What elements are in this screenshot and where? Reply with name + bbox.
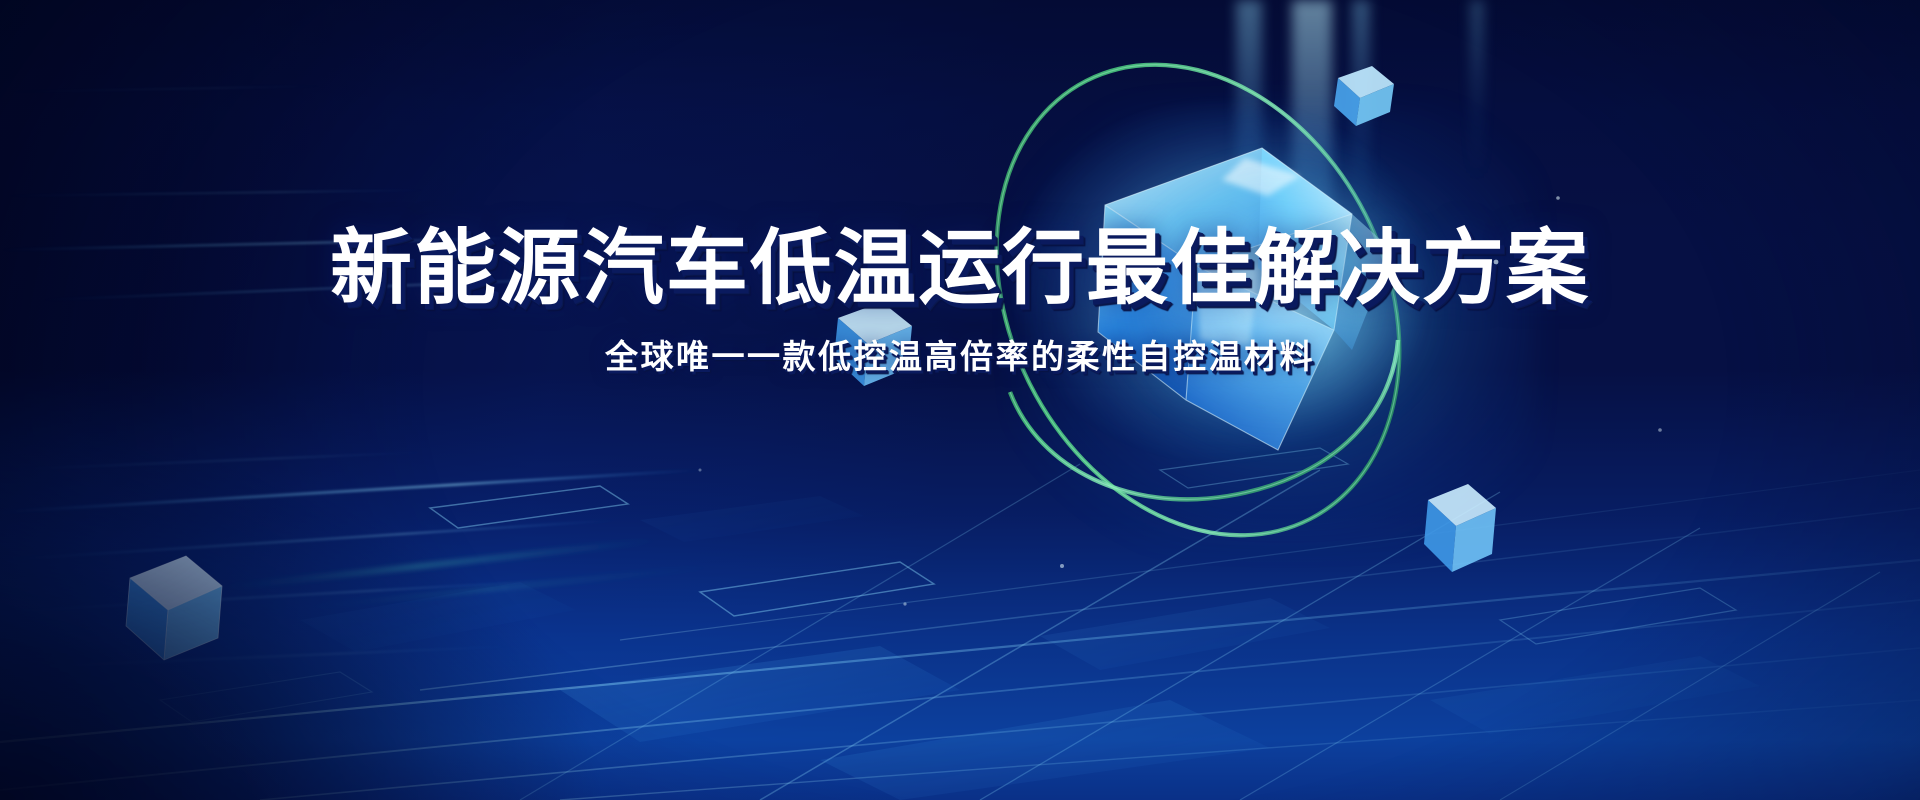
page-title: 新能源汽车低温运行最佳解决方案 — [0, 228, 1920, 310]
hero-banner: 新能源汽车低温运行最佳解决方案 全球唯一一款低控温高倍率的柔性自控温材料 — [0, 0, 1920, 800]
background-vignette — [0, 0, 1920, 800]
page-subtitle: 全球唯一一款低控温高倍率的柔性自控温材料 — [0, 340, 1920, 373]
hero-text-block: 新能源汽车低温运行最佳解决方案 全球唯一一款低控温高倍率的柔性自控温材料 — [0, 228, 1920, 373]
